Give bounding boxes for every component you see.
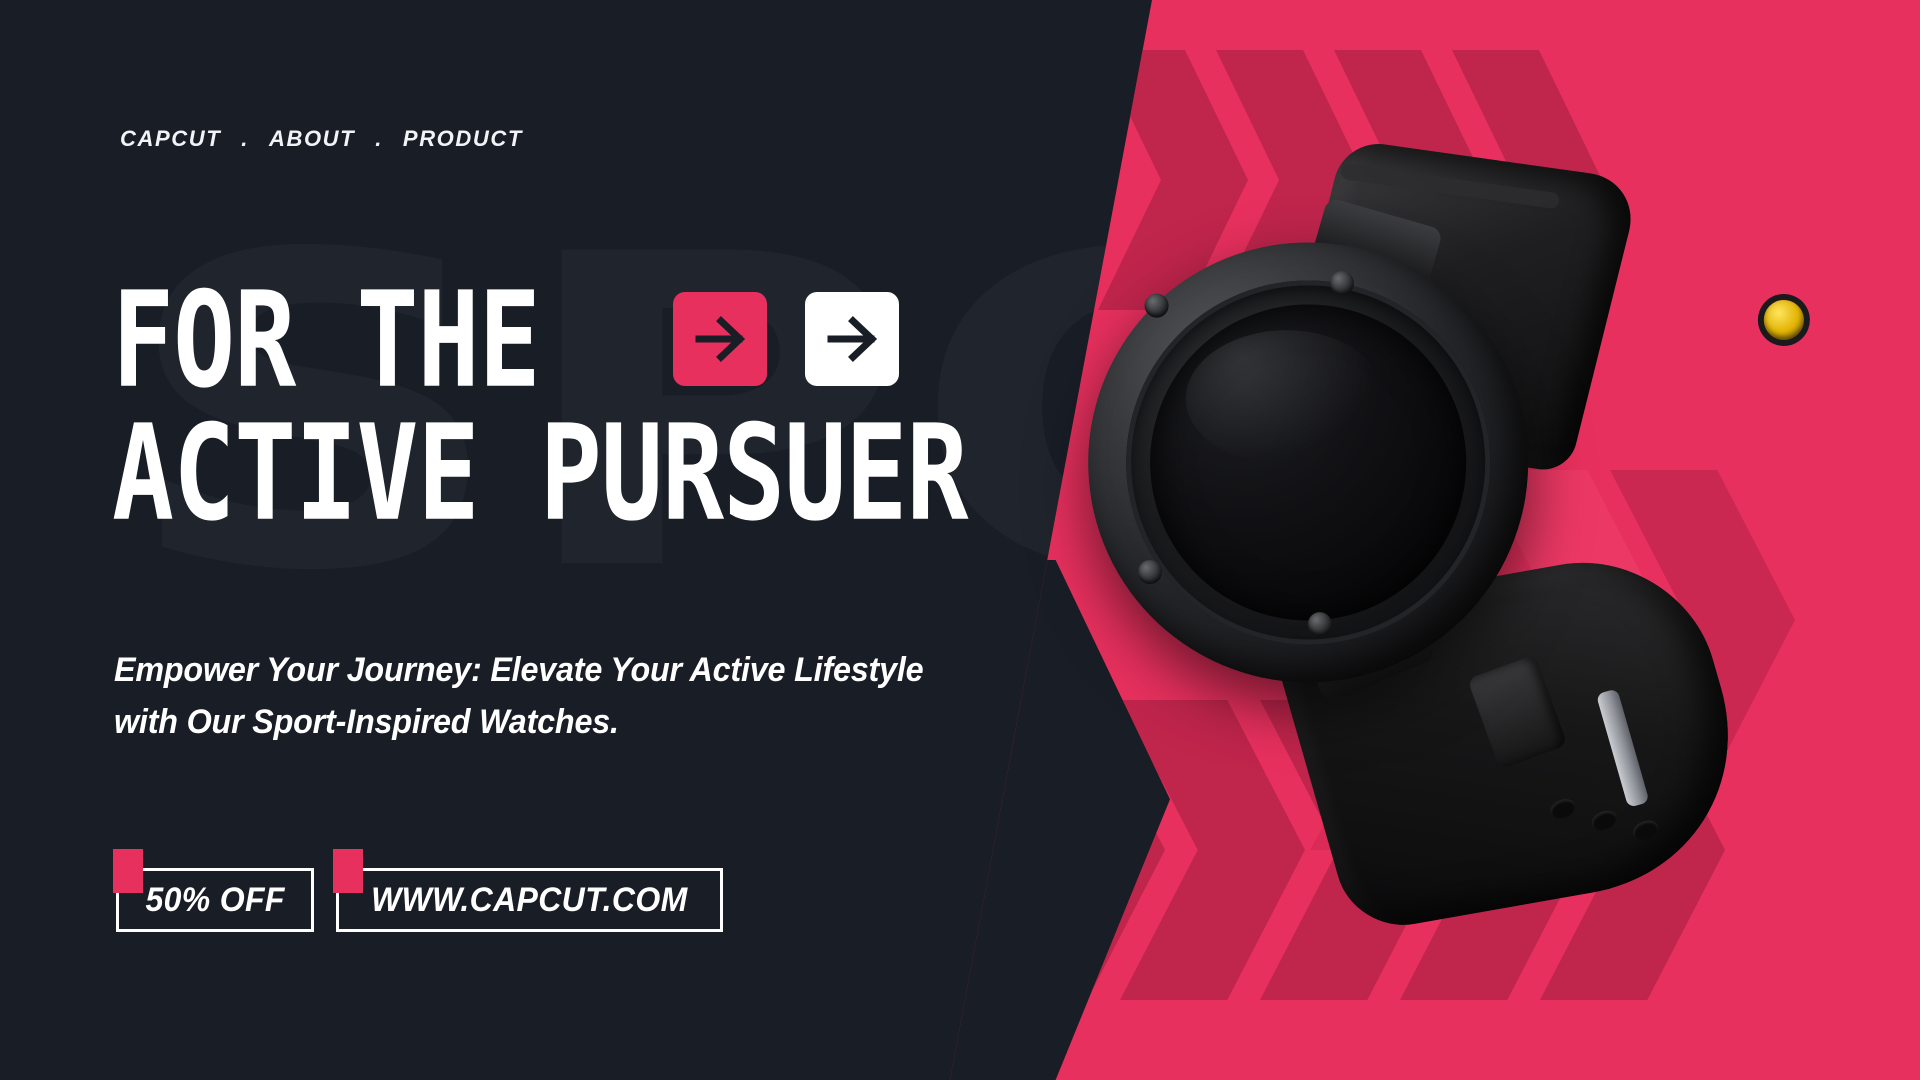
- subtitle-text: Empower Your Journey: Elevate Your Activ…: [114, 645, 969, 748]
- watch-crown-button[interactable]: [1763, 299, 1804, 340]
- watch-screw-bl: [1137, 560, 1162, 585]
- discount-label: 50% OFF: [145, 881, 284, 920]
- website-badge[interactable]: WWW.CAPCUT.COM: [336, 868, 723, 932]
- headline-line-2: ACTIVE PURSUER: [112, 414, 968, 536]
- promo-banner: SPO CAPCUT . ABOUT . PRODUCT FOR THE: [0, 0, 1920, 1080]
- nav-item-product[interactable]: PRODUCT: [399, 126, 527, 152]
- cta-row: 50% OFF WWW.CAPCUT.COM: [116, 868, 723, 932]
- arrow-right-icon-secondary[interactable]: [805, 292, 899, 386]
- watch-screw-tl: [1144, 293, 1169, 318]
- product-image-smartwatch: [1090, 150, 1810, 910]
- website-label: WWW.CAPCUT.COM: [371, 881, 688, 920]
- arrow-right-icon-primary[interactable]: [673, 292, 767, 386]
- discount-badge[interactable]: 50% OFF: [116, 868, 314, 932]
- headline-row-1: FOR THE: [112, 290, 1042, 393]
- arrow-button-group: [673, 292, 899, 386]
- left-content-panel: SPO CAPCUT . ABOUT . PRODUCT FOR THE: [0, 0, 1100, 1080]
- nav-separator-1: .: [225, 126, 265, 152]
- discount-badge-corner-accent: [113, 849, 143, 893]
- nav-item-about[interactable]: ABOUT: [265, 126, 359, 152]
- headline-block: FOR THE ACTIVE PURSUER: [112, 290, 1042, 526]
- nav-separator-2: .: [359, 126, 399, 152]
- watch-screen-glare: [1184, 327, 1384, 466]
- nav-item-capcut[interactable]: CAPCUT: [116, 126, 225, 152]
- top-navigation: CAPCUT . ABOUT . PRODUCT: [116, 126, 527, 152]
- headline-line-1: FOR THE: [112, 281, 540, 403]
- watch-screen[interactable]: [1145, 299, 1472, 626]
- watch-bezel: [1120, 274, 1496, 650]
- smartwatch-graphic: [1052, 114, 1847, 945]
- website-badge-corner-accent: [333, 849, 363, 893]
